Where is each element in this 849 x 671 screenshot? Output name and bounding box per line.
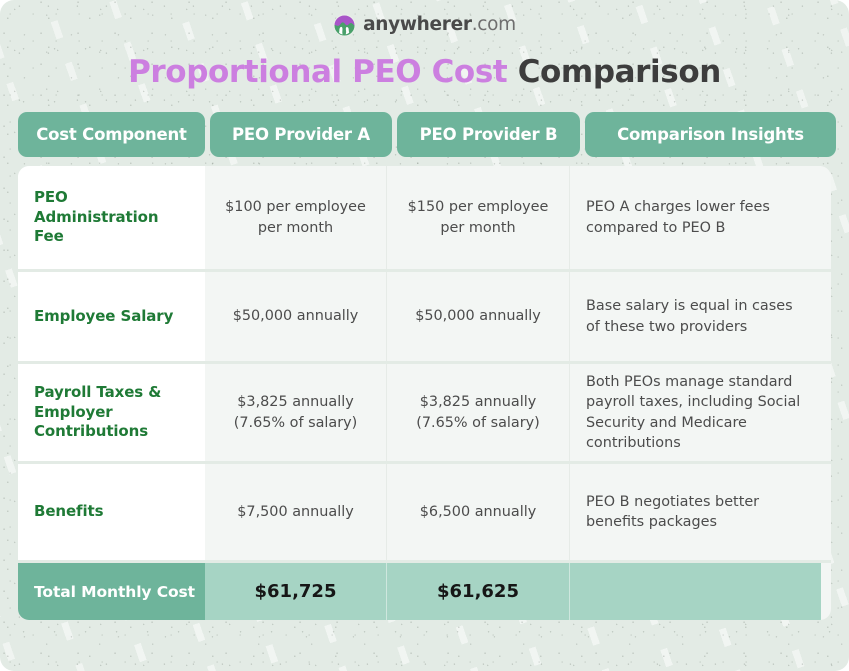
page-title: Proportional PEO Cost Comparison — [0, 54, 849, 90]
row-label: PEO Administration Fee — [18, 166, 205, 269]
column-header-peo-provider-b: PEO Provider B — [397, 112, 580, 157]
cell-provider-a: $7,500 annually — [205, 464, 387, 560]
cell-insight: PEO B negotiates better benefits package… — [570, 464, 821, 560]
globe-icon — [333, 14, 356, 37]
table-row: Employee Salary $50,000 annually $50,000… — [18, 272, 831, 364]
cell-provider-b: $6,500 annually — [387, 464, 570, 560]
total-provider-a: $61,725 — [205, 563, 387, 620]
cell-insight: PEO A charges lower fees compared to PEO… — [570, 166, 821, 269]
table-body: PEO Administration Fee $100 per employee… — [18, 166, 831, 620]
table-row: Benefits $7,500 annually $6,500 annually… — [18, 464, 831, 563]
brand-tld: .com — [472, 14, 516, 35]
cell-provider-b: $3,825 annually (7.65% of salary) — [387, 364, 570, 461]
table-total-row: Total Monthly Cost $61,725 $61,625 — [18, 563, 831, 620]
brand-name: anywherer.com — [363, 16, 516, 35]
cell-provider-a: $3,825 annually (7.65% of salary) — [205, 364, 387, 461]
page-title-plain: Comparison — [507, 54, 721, 90]
column-header-peo-provider-a: PEO Provider A — [210, 112, 392, 157]
row-label: Employee Salary — [18, 272, 205, 361]
table-header-row: Cost Component PEO Provider A PEO Provid… — [18, 112, 831, 157]
total-insight — [570, 563, 821, 620]
column-header-comparison-insights: Comparison Insights — [585, 112, 836, 157]
column-header-cost-component: Cost Component — [18, 112, 205, 157]
page-title-accent: Proportional PEO Cost — [128, 54, 507, 90]
cell-provider-b: $50,000 annually — [387, 272, 570, 361]
total-label: Total Monthly Cost — [18, 563, 205, 620]
cell-provider-a: $100 per employee per month — [205, 166, 387, 269]
comparison-table: Cost Component PEO Provider A PEO Provid… — [18, 112, 831, 620]
cell-provider-b: $150 per employee per month — [387, 166, 570, 269]
comparison-infographic: anywherer.com Proportional PEO Cost Comp… — [0, 0, 849, 671]
row-label: Payroll Taxes & Employer Contributions — [18, 364, 205, 461]
cell-provider-a: $50,000 annually — [205, 272, 387, 361]
cell-insight: Base salary is equal in cases of these t… — [570, 272, 821, 361]
table-row: PEO Administration Fee $100 per employee… — [18, 166, 831, 272]
total-provider-b: $61,625 — [387, 563, 570, 620]
table-row: Payroll Taxes & Employer Contributions $… — [18, 364, 831, 464]
row-label: Benefits — [18, 464, 205, 560]
brand-logo[interactable]: anywherer.com — [0, 0, 849, 30]
cell-insight: Both PEOs manage standard payroll taxes,… — [570, 364, 821, 461]
